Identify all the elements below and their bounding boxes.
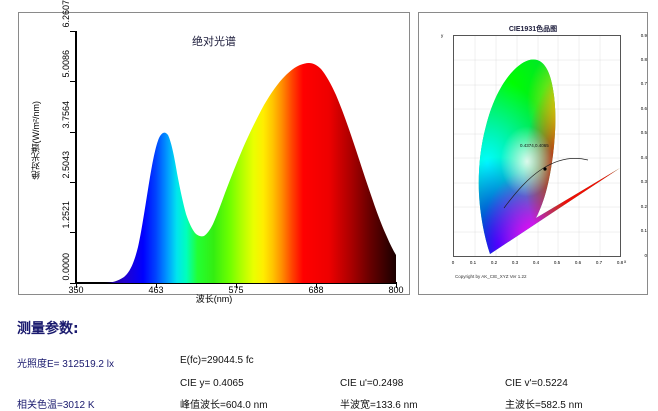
cie-title: CIE1931色品图	[419, 24, 647, 34]
param-cie-u-prime: CIE u'=0.2498	[340, 378, 403, 389]
param-illuminance-lx: 光照度E= 312519.2 lx	[17, 355, 114, 370]
cie-xtick-2: 0.2	[487, 260, 501, 265]
spectrum-ytick-5: 6.2607	[61, 0, 71, 28]
param-dominant-wavelength: 主波长=582.5 nm	[505, 396, 583, 411]
cie-chromaticity-panel: CIE1931色品图 y x 0.9 0.8 0.7 0.6 0.5 0.4 0…	[418, 12, 648, 295]
param-illuminance-fc: E(fc)=29044.5 fc	[180, 355, 254, 366]
spectrum-curve	[76, 31, 396, 283]
params-heading: 测量参数:	[17, 318, 79, 338]
cie-copyright: Copyright by AK_CIE_XYZ Ver 1.22	[455, 274, 527, 279]
param-half-width: 半波宽=133.6 nm	[340, 396, 418, 411]
cie-y-axis-name: y	[441, 33, 443, 38]
cie-point-label: 0.4374,0.4065	[520, 143, 549, 148]
param-cct: 相关色温=3012 K	[17, 396, 95, 411]
spectrum-ytick-1: 1.2521	[61, 201, 71, 229]
spectrum-ytick-0: 0.0000	[61, 253, 71, 281]
param-peak-wavelength: 峰值波长=604.0 nm	[180, 396, 268, 411]
cie-xtick-0: 0	[446, 260, 460, 265]
cie-xtick-3: 0.3	[508, 260, 522, 265]
spectrum-ytick-4: 5.0086	[61, 50, 71, 78]
spectrum-x-axis-label: 波长(nm)	[19, 292, 409, 305]
param-cie-v-prime: CIE v'=0.5224	[505, 378, 568, 389]
spectrum-ytick-3: 3.7564	[61, 101, 71, 129]
cie-xtick-7: 0.7	[592, 260, 606, 265]
cie-xtick-6: 0.6	[571, 260, 585, 265]
cie-xtick-4: 0.4	[529, 260, 543, 265]
spectrum-chart-panel: 绝对光谱 绝对光谱(W/m²/nm) 0.0000 1.2521 2.5043 …	[18, 12, 410, 295]
spectrum-y-axis-label: 绝对光谱(W/m²/nm)	[29, 101, 42, 180]
param-cie-y: CIE y= 0.4065	[180, 378, 244, 389]
cie-measured-point	[543, 167, 546, 170]
spectrum-ytick-2: 2.5043	[61, 151, 71, 179]
cie-xtick-1: 0.1	[466, 260, 480, 265]
cie-xtick-5: 0.5	[550, 260, 564, 265]
cie-xtick-8: 0.8	[613, 260, 627, 265]
